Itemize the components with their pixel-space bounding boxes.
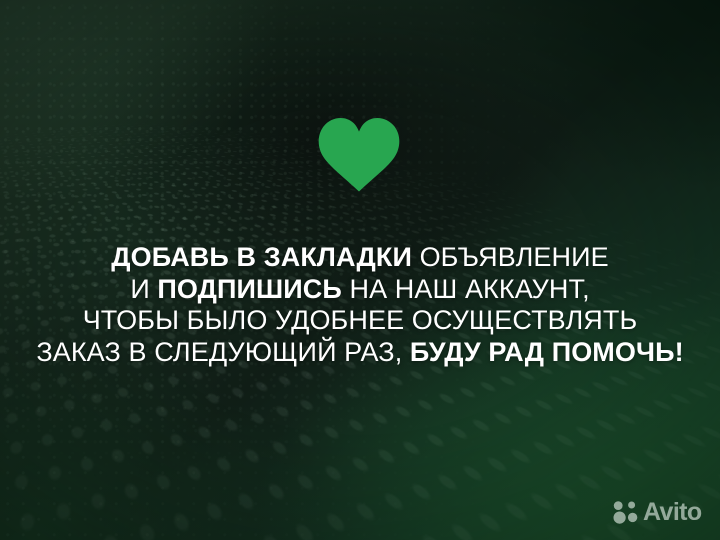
message-emphasis: ПОДПИШИСЬ: [157, 274, 341, 304]
message-text: ОБЪЯВЛЕНИЕ: [412, 242, 609, 272]
message-text: И: [130, 274, 157, 304]
message-text: ЗАКАЗ В СЛЕДУЮЩИЙ РАЗ,: [36, 337, 410, 367]
message-text: ЧТОБЫ БЫЛО УДОБНЕЕ ОСУЩЕСТВЛЯТЬ: [83, 305, 638, 335]
avito-dots-icon: [612, 500, 638, 524]
avito-logo: Avito: [612, 500, 702, 524]
avito-promo-banner: ДОБАВЬ В ЗАКЛАДКИ ОБЪЯВЛЕНИЕ И ПОДПИШИСЬ…: [0, 0, 720, 540]
message-line-2: И ПОДПИШИСЬ НА НАШ АККАУНТ,: [0, 274, 720, 306]
message-emphasis: БУДУ РАД ПОМОЧЬ!: [410, 337, 684, 367]
promo-message: ДОБАВЬ В ЗАКЛАДКИ ОБЪЯВЛЕНИЕ И ПОДПИШИСЬ…: [0, 242, 720, 368]
avito-wordmark: Avito: [643, 500, 702, 524]
message-line-3: ЧТОБЫ БЫЛО УДОБНЕЕ ОСУЩЕСТВЛЯТЬ: [0, 305, 720, 337]
message-line-1: ДОБАВЬ В ЗАКЛАДКИ ОБЪЯВЛЕНИЕ: [0, 242, 720, 274]
heart-icon: [318, 114, 400, 192]
message-emphasis: ДОБАВЬ В ЗАКЛАДКИ: [111, 242, 412, 272]
message-line-4: ЗАКАЗ В СЛЕДУЮЩИЙ РАЗ, БУДУ РАД ПОМОЧЬ!: [0, 337, 720, 369]
message-text: НА НАШ АККАУНТ,: [342, 274, 590, 304]
